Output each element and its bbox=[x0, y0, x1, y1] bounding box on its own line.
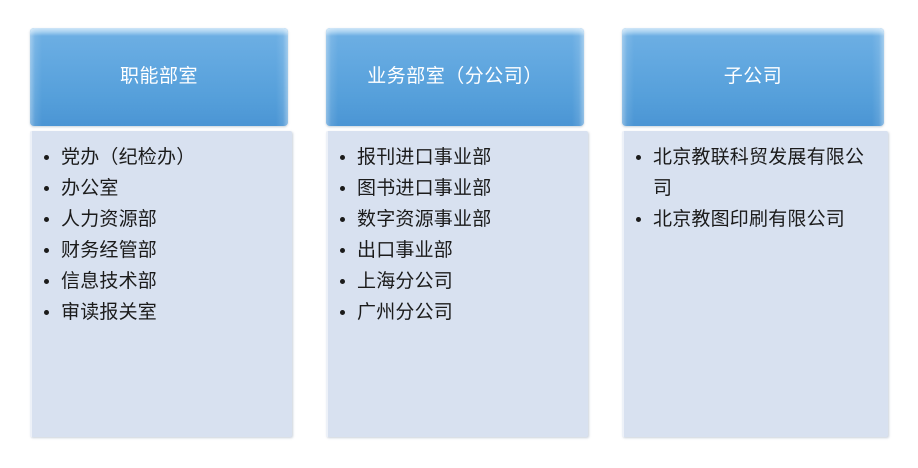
bullet-dot-icon bbox=[44, 279, 49, 284]
bullet-dot-icon bbox=[44, 186, 49, 191]
list-item-label: 党办（纪检办） bbox=[61, 146, 195, 168]
list-item-label: 审读报关室 bbox=[61, 301, 157, 323]
bullet-dot-icon bbox=[44, 248, 49, 253]
list-item-label: 报刊进口事业部 bbox=[357, 146, 491, 168]
list-item-label: 上海分公司 bbox=[357, 270, 453, 292]
bullet-dot-icon bbox=[44, 217, 49, 222]
org-structure-diagram: 职能部室 党办（纪检办） 办公室 人力资源部 财务经管部 bbox=[0, 0, 918, 468]
diagram-column-subsidiaries: 子公司 北京教联科贸发展有限公司 北京教图印刷有限公司 bbox=[622, 28, 888, 437]
list-item-label: 信息技术部 bbox=[61, 270, 157, 292]
list-item[interactable]: 审读报关室 bbox=[40, 297, 286, 328]
list-item[interactable]: 人力资源部 bbox=[40, 204, 286, 235]
column-header-business-departments[interactable]: 业务部室（分公司） bbox=[326, 28, 584, 126]
bullet-dot-icon bbox=[340, 279, 345, 284]
column-body-subsidiaries: 北京教联科贸发展有限公司 北京教图印刷有限公司 bbox=[622, 131, 888, 437]
bullet-dot-icon bbox=[340, 217, 345, 222]
list-item-label: 图书进口事业部 bbox=[357, 177, 491, 199]
column-header-functional-departments[interactable]: 职能部室 bbox=[30, 28, 288, 126]
list-item[interactable]: 广州分公司 bbox=[336, 297, 582, 328]
list-item[interactable]: 信息技术部 bbox=[40, 266, 286, 297]
diagram-column-business-departments: 业务部室（分公司） 报刊进口事业部 图书进口事业部 数字资源事业部 出口 bbox=[326, 28, 588, 437]
bullet-dot-icon bbox=[636, 217, 641, 222]
column-header-label: 职能部室 bbox=[120, 65, 198, 89]
bullet-dot-icon bbox=[340, 155, 345, 160]
list-item-label: 数字资源事业部 bbox=[357, 208, 491, 230]
list-item[interactable]: 北京教联科贸发展有限公司 bbox=[632, 142, 882, 204]
item-list-subsidiaries: 北京教联科贸发展有限公司 北京教图印刷有限公司 bbox=[622, 131, 888, 235]
column-header-label: 子公司 bbox=[724, 65, 783, 89]
bullet-dot-icon bbox=[340, 186, 345, 191]
list-item[interactable]: 报刊进口事业部 bbox=[336, 142, 582, 173]
list-item-label: 广州分公司 bbox=[357, 301, 453, 323]
list-item[interactable]: 上海分公司 bbox=[336, 266, 582, 297]
list-item-label: 财务经管部 bbox=[61, 239, 157, 261]
list-item-label: 北京教联科贸发展有限公司 bbox=[653, 146, 864, 199]
list-item[interactable]: 党办（纪检办） bbox=[40, 142, 286, 173]
list-item-label: 办公室 bbox=[61, 177, 119, 199]
item-list-business-departments: 报刊进口事业部 图书进口事业部 数字资源事业部 出口事业部 上海分公司 bbox=[326, 131, 588, 328]
column-body-functional-departments: 党办（纪检办） 办公室 人力资源部 财务经管部 信息技术部 bbox=[30, 131, 292, 437]
list-item-label: 北京教图印刷有限公司 bbox=[653, 208, 845, 230]
list-item[interactable]: 出口事业部 bbox=[336, 235, 582, 266]
column-body-business-departments: 报刊进口事业部 图书进口事业部 数字资源事业部 出口事业部 上海分公司 bbox=[326, 131, 588, 437]
bullet-dot-icon bbox=[636, 155, 641, 160]
column-header-subsidiaries[interactable]: 子公司 bbox=[622, 28, 884, 126]
item-list-functional-departments: 党办（纪检办） 办公室 人力资源部 财务经管部 信息技术部 bbox=[30, 131, 292, 328]
bullet-dot-icon bbox=[44, 155, 49, 160]
bullet-dot-icon bbox=[44, 310, 49, 315]
list-item[interactable]: 数字资源事业部 bbox=[336, 204, 582, 235]
list-item-label: 人力资源部 bbox=[61, 208, 157, 230]
column-header-label: 业务部室（分公司） bbox=[367, 65, 543, 89]
list-item[interactable]: 北京教图印刷有限公司 bbox=[632, 204, 882, 235]
bullet-dot-icon bbox=[340, 248, 345, 253]
list-item-label: 出口事业部 bbox=[357, 239, 453, 261]
bullet-dot-icon bbox=[340, 310, 345, 315]
list-item[interactable]: 办公室 bbox=[40, 173, 286, 204]
list-item[interactable]: 图书进口事业部 bbox=[336, 173, 582, 204]
diagram-column-functional-departments: 职能部室 党办（纪检办） 办公室 人力资源部 财务经管部 bbox=[30, 28, 292, 437]
list-item[interactable]: 财务经管部 bbox=[40, 235, 286, 266]
